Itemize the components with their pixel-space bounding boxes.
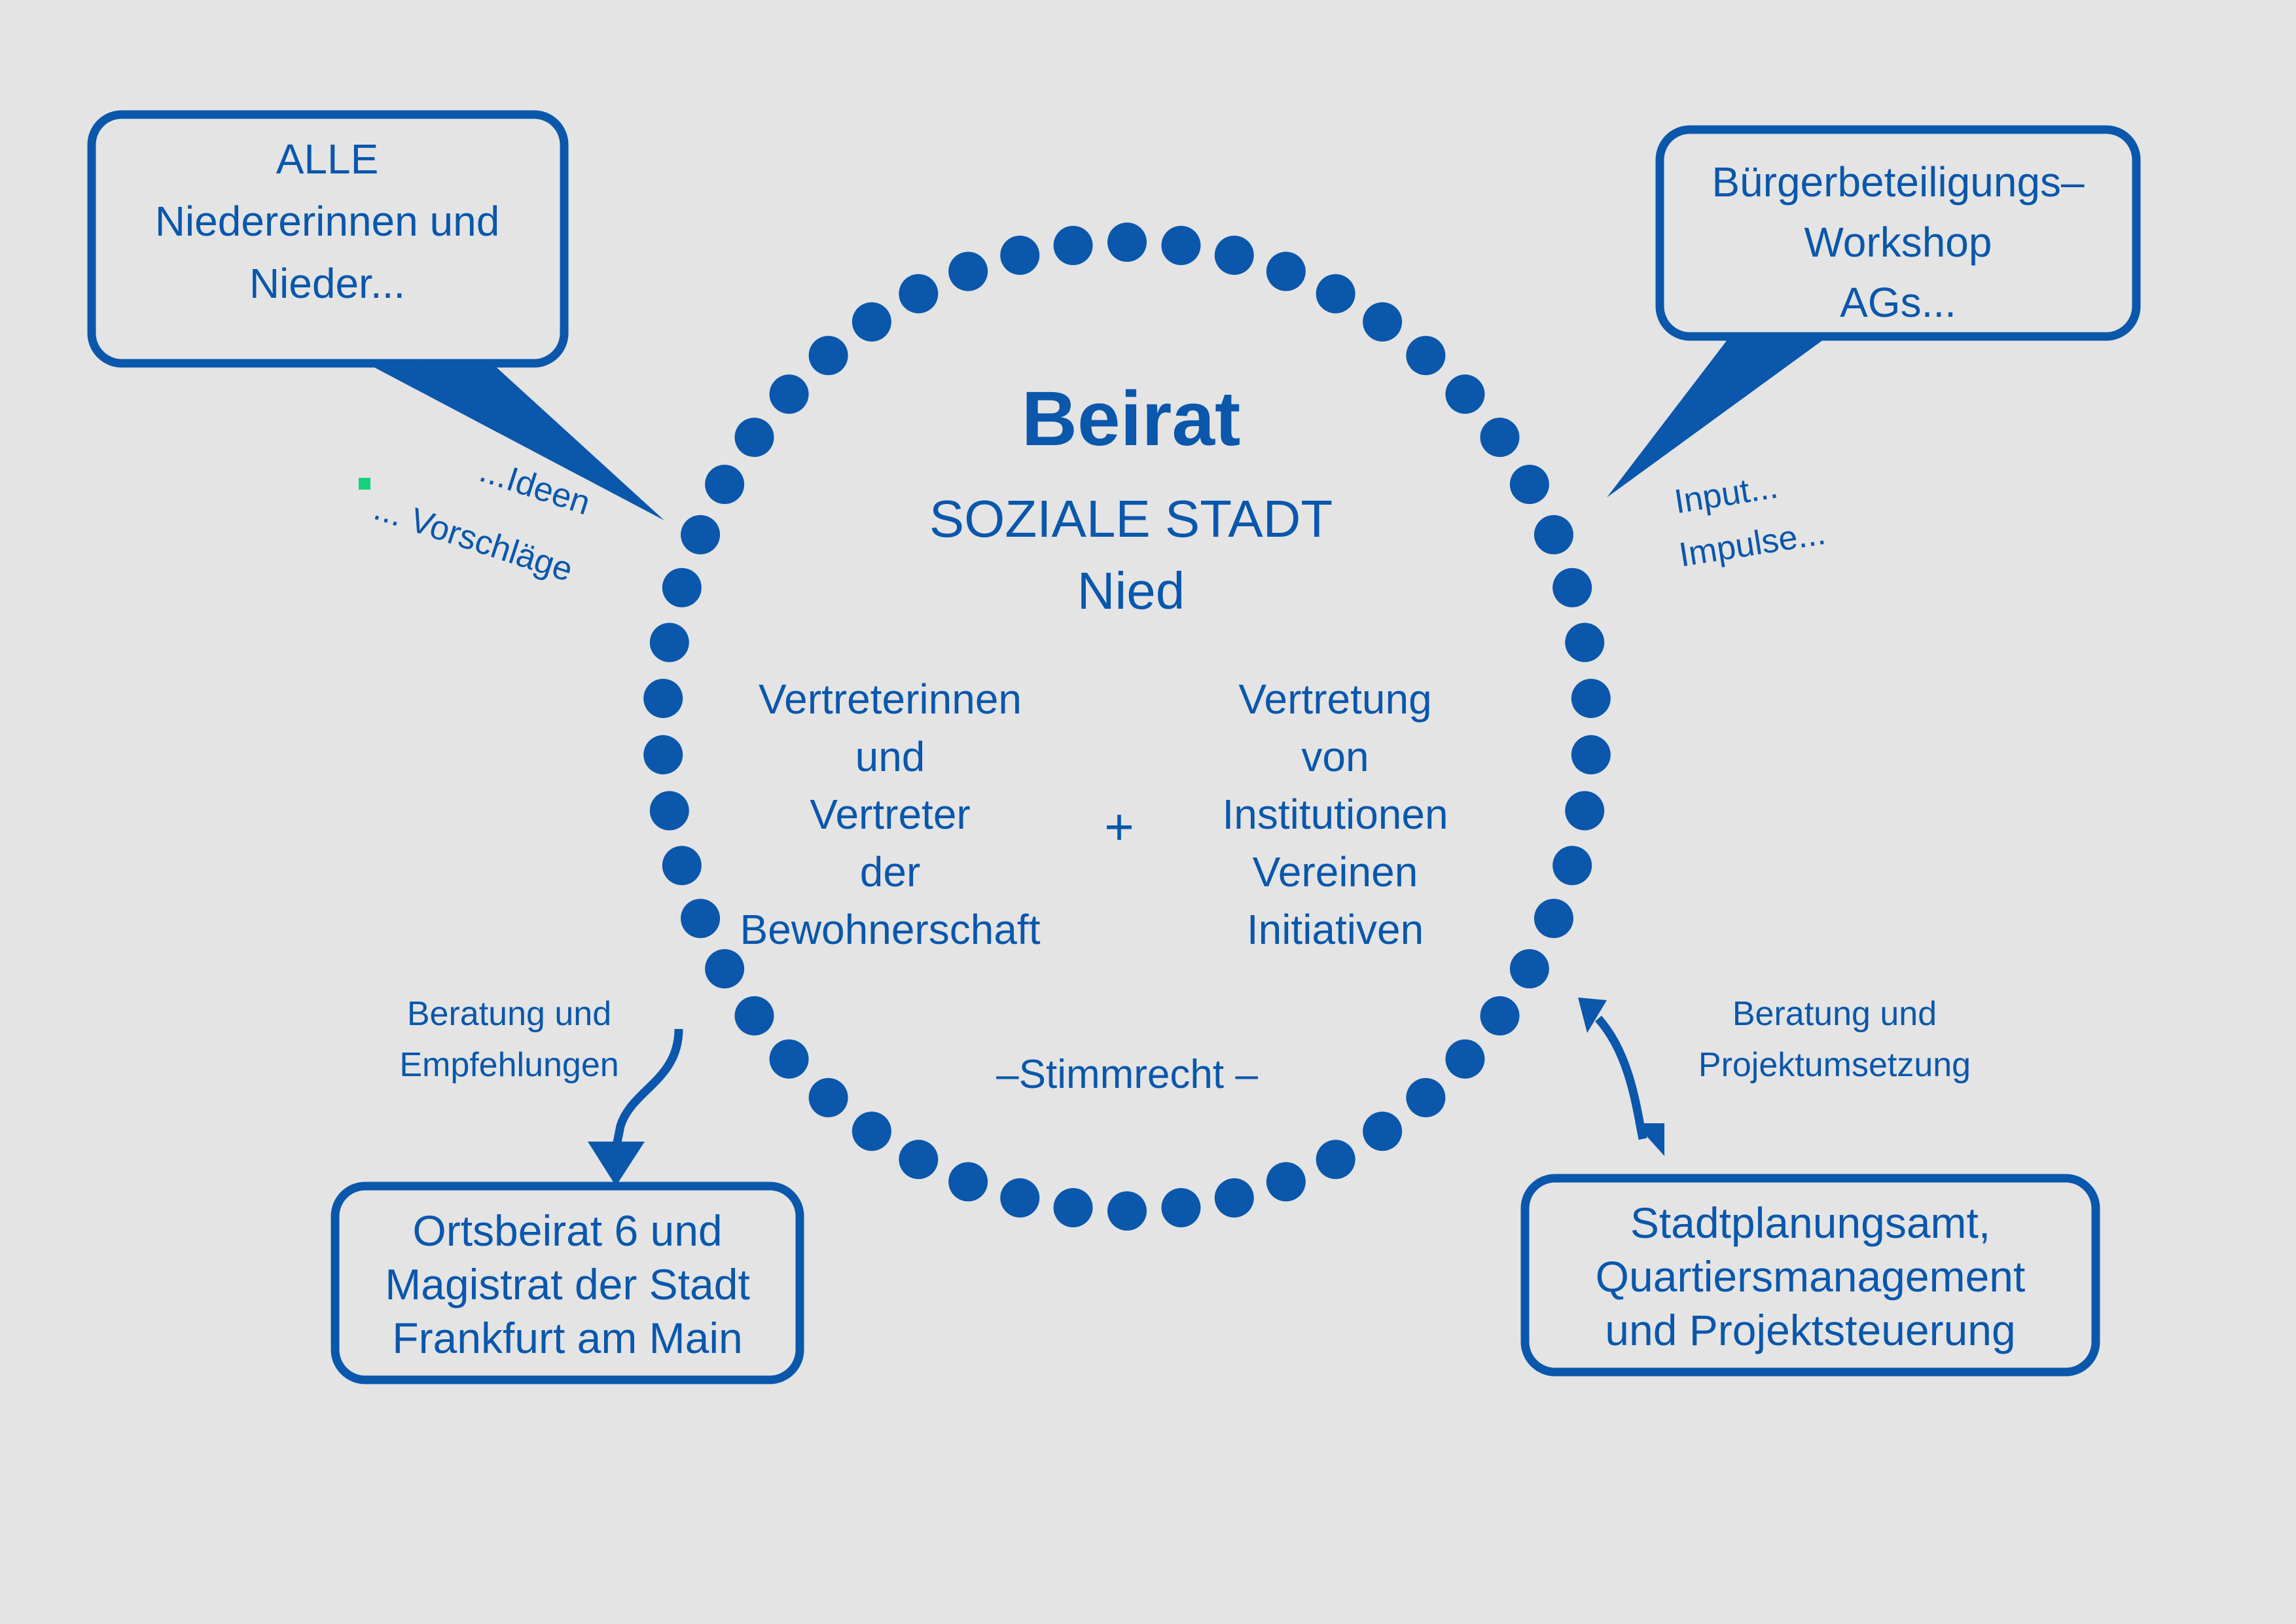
circle-dot [681,515,720,554]
circle-dot [1510,465,1549,504]
box-bottom-left-line-1: Ortsbeirat 6 und [412,1206,722,1255]
bubble-top-right-line-3: AGs... [1840,279,1956,326]
diagram-canvas: ALLE Niedererinnen und Nieder... Bürgerb… [0,0,2296,1624]
circle-dot [650,623,689,662]
box-bottom-right[interactable]: Stadtplanungsamt, Quartiersmanagement un… [1525,1178,2096,1372]
circle-dot [1000,236,1039,275]
circle-dot [734,418,774,457]
circle-dot [662,846,702,885]
circle-dot [1552,568,1592,607]
speech-bubble-top-left[interactable]: ALLE Niedererinnen und Nieder... [92,115,664,520]
circle-dot [681,899,720,938]
center-content: Beirat SOZIALE STADT Nied Vertreterinnen… [740,376,1448,1097]
center-right-col-line-4: Vereinen [1253,848,1418,895]
green-marker-dot [359,478,370,490]
circle-dot [899,274,938,314]
bubble-top-left-line-1: ALLE [276,135,379,183]
circle-dot [1480,418,1520,457]
bubble-top-right-line-1: Bürgerbeteiligungs– [1712,158,2085,206]
center-right-col-line-2: von [1301,733,1369,780]
circle-dot [705,949,744,988]
center-left-col-line-3: Vertreter [810,791,970,838]
annotation-input: Input... [1672,467,1780,521]
circle-dot [734,996,774,1036]
center-right-col-line-3: Institutionen [1222,791,1448,838]
center-right-col-line-1: Vertretung [1238,676,1431,723]
circle-dot [948,1162,988,1201]
circle-dot [852,1111,891,1151]
bubble-top-right-tail [1607,338,1826,497]
center-left-col-line-2: und [855,733,925,780]
bubble-top-left-line-2: Niedererinnen und [155,198,500,245]
circle-dot [650,791,689,831]
circle-dot [1406,1078,1445,1117]
circle-dot [1552,846,1592,885]
circle-dot [1316,274,1355,314]
circle-dot [643,735,683,774]
box-bottom-left-line-2: Magistrat der Stadt [385,1260,750,1308]
circle-dot [1445,374,1484,414]
circle-dot [1363,1111,1402,1151]
bubble-top-left-line-3: Nieder... [249,260,405,307]
annotation-beratung-empfehlungen-line-1: Beratung und [407,995,611,1033]
circle-dot [662,568,702,607]
speech-bubble-top-right[interactable]: Bürgerbeteiligungs– Workshop AGs... [1607,130,2136,497]
annotation-beratung-projektumsetzung-line-1: Beratung und [1732,995,1937,1033]
center-operator: + [1104,798,1134,856]
circle-dot [1161,1188,1200,1227]
annotation-group-top-right: Input... Impulse... [1672,467,1828,574]
circle-dot [1363,302,1402,342]
circle-dot [1480,996,1520,1036]
bubble-top-right-line-2: Workshop [1804,219,1992,266]
circle-dot [1534,515,1573,554]
center-footer: –Stimmrecht – [996,1052,1258,1097]
circle-dot [1565,791,1604,831]
circle-dot [1534,899,1573,938]
box-bottom-left[interactable]: Ortsbeirat 6 und Magistrat der Stadt Fra… [335,1186,800,1380]
circle-dot [1054,226,1093,265]
diagram-svg: ALLE Niedererinnen und Nieder... Bürgerb… [0,0,2296,1624]
circle-dot [1215,236,1254,275]
circle-dot [1215,1178,1254,1218]
center-left-col-line-1: Vertreterinnen [759,676,1022,723]
arrow-head-bottom-left [588,1142,645,1186]
circle-dot [948,252,988,291]
circle-dot [809,1078,848,1117]
annotation-group-top-left: ...Ideen ... Vorschläge [359,451,595,589]
circle-dot [1266,1162,1306,1201]
circle-dot [1107,1191,1147,1231]
circle-dot [1445,1039,1484,1079]
circle-dot [809,336,848,375]
center-left-col-line-4: der [860,848,921,895]
annotation-group-bottom-right: Beratung und Projektumsetzung [1578,995,1971,1156]
center-title: Beirat [1022,376,1240,462]
box-bottom-right-line-2: Quartiersmanagement [1596,1252,2026,1301]
circle-dot [1571,679,1611,718]
center-subtitle-line-2: Nied [1077,562,1185,620]
center-left-col-line-5: Bewohnerschaft [740,906,1041,953]
arrow-curve-bottom-left [615,1029,679,1152]
circle-dot [643,679,683,718]
center-right-col-line-5: Initiativen [1247,906,1424,953]
circle-dot [770,374,809,414]
box-bottom-right-line-1: Stadtplanungsamt, [1630,1199,1990,1247]
circle-dot [1054,1188,1093,1227]
annotation-beratung-empfehlungen-line-2: Empfehlungen [399,1046,619,1084]
annotation-impulse: Impulse... [1676,514,1828,575]
circle-dot [852,302,891,342]
center-subtitle-line-1: SOZIALE STADT [929,490,1333,548]
circle-dot [899,1140,938,1179]
circle-dot [705,465,744,504]
annotation-beratung-projektumsetzung-line-2: Projektumsetzung [1698,1046,1971,1084]
circle-dot [1316,1140,1355,1179]
circle-dot [1565,623,1604,662]
arrow-curve-bottom-right [1598,1019,1643,1139]
circle-dot [1000,1178,1039,1218]
circle-dot [1266,252,1306,291]
circle-dot [1406,336,1445,375]
circle-dot [1161,226,1200,265]
circle-dot [1107,223,1147,262]
box-bottom-left-line-3: Frankfurt am Main [392,1314,742,1362]
circle-dot [1510,949,1549,988]
circle-dot [1571,735,1611,774]
annotation-group-bottom-left: Beratung und Empfehlungen [399,995,679,1186]
circle-dot [770,1039,809,1079]
box-bottom-right-line-3: und Projektsteuerung [1605,1306,2015,1354]
